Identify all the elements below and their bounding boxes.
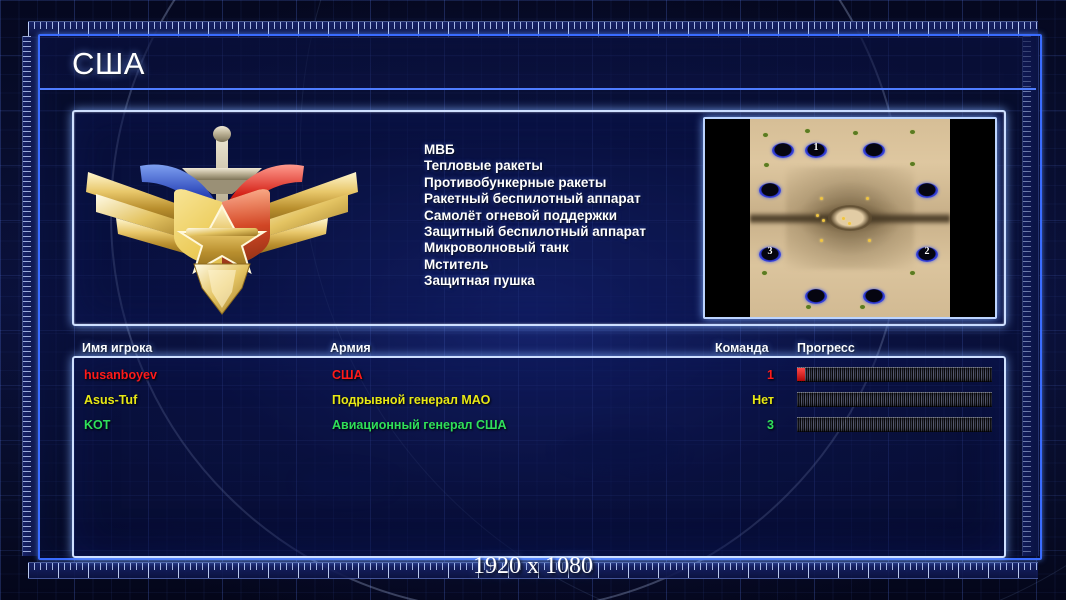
minimap-start-marker [805, 289, 827, 304]
player-table-body: husanboyev США 1 Asus-Tuf Подрывной гене… [74, 364, 1000, 439]
minimap-start-marker [863, 289, 885, 304]
player-name: Asus-Tuf [84, 393, 137, 407]
column-header-progress: Прогресс [797, 341, 855, 355]
minimap-start-marker: 1 [805, 143, 827, 158]
minimap-start-marker: 2 [916, 247, 938, 262]
minimap-terrain: 1 3 2 [750, 119, 950, 317]
unit-list-item: Противобункерные ракеты [424, 175, 694, 191]
table-row[interactable]: husanboyev США 1 [74, 364, 1000, 389]
unit-list-item: Самолёт огневой поддержки [424, 208, 694, 224]
player-team: Нет [714, 393, 774, 407]
minimap-start-marker [916, 183, 938, 198]
player-army: Авиационный генерал США [332, 418, 507, 432]
unit-list-item: МВБ [424, 142, 694, 158]
unit-list-item: Защитный беспилотный аппарат [424, 224, 694, 240]
page-title: США [72, 46, 145, 82]
player-progress-bar [797, 367, 992, 382]
minimap-start-marker [759, 183, 781, 198]
table-row[interactable]: Asus-Tuf Подрывной генерал МАО Нет [74, 389, 1000, 414]
unit-list-item: Микроволновый танк [424, 240, 694, 256]
player-team: 1 [714, 368, 774, 382]
unit-list-item: Мститель [424, 257, 694, 273]
title-bar [40, 36, 1036, 90]
table-row[interactable]: KOT Авиационный генерал США 3 [74, 414, 1000, 439]
column-header-player: Имя игрока [82, 341, 152, 355]
minimap-start-marker [863, 143, 885, 158]
unit-list-item: Ракетный беспилотный аппарат [424, 191, 694, 207]
player-progress-bar [797, 392, 992, 407]
player-team: 3 [714, 418, 774, 432]
ruler-strip-left [22, 36, 39, 556]
game-lobby-screen: США [0, 0, 1066, 600]
resolution-label: 1920 x 1080 [0, 553, 1066, 580]
player-progress-bar [797, 417, 992, 432]
faction-unit-list: МВБ Тепловые ракеты Противобункерные рак… [424, 142, 694, 290]
minimap-center-feature [828, 205, 872, 231]
player-army: США [332, 368, 363, 382]
unit-list-item: Тепловые ракеты [424, 158, 694, 174]
player-name: husanboyev [84, 368, 157, 382]
player-army: Подрывной генерал МАО [332, 393, 490, 407]
column-header-army: Армия [330, 341, 371, 355]
column-header-team: Команда [715, 341, 769, 355]
minimap-start-marker: 3 [759, 247, 781, 262]
player-name: KOT [84, 418, 110, 432]
player-progress-fill [797, 368, 805, 381]
usa-eagle-wings-emblem-icon [82, 120, 362, 315]
minimap-preview[interactable]: 1 3 2 [703, 117, 997, 319]
minimap-start-marker [772, 143, 794, 158]
unit-list-item: Защитная пушка [424, 273, 694, 289]
player-table-header: Имя игрока Армия Команда Прогресс [72, 341, 1002, 357]
